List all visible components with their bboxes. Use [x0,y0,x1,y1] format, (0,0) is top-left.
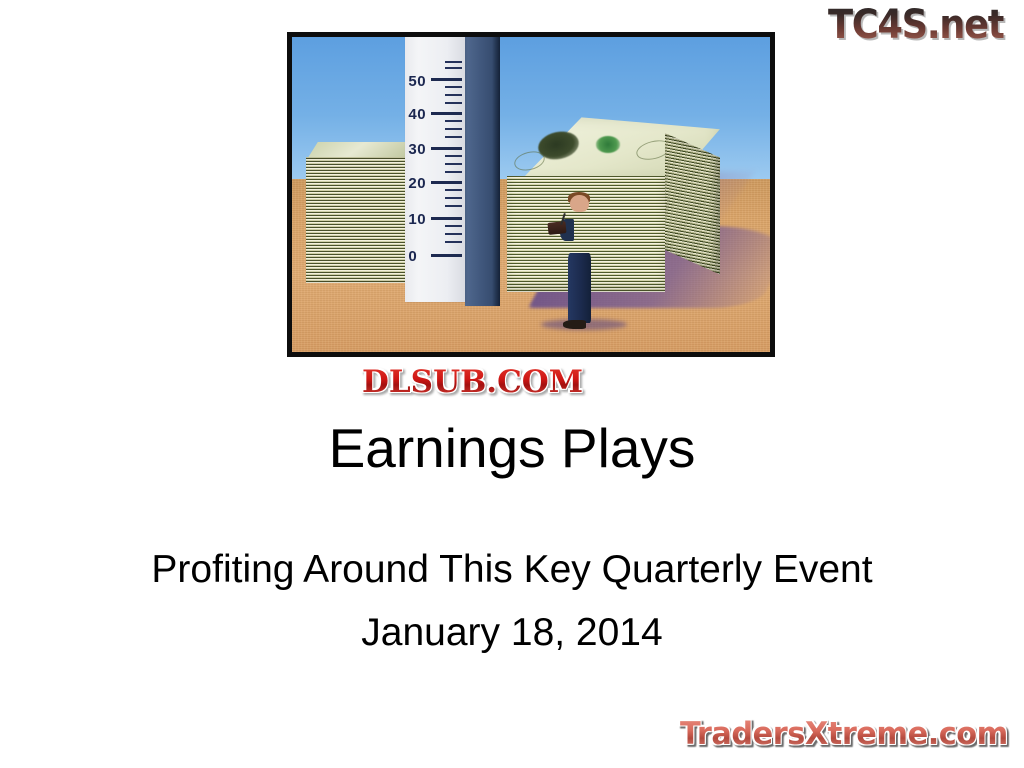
ruler-tick-major [431,112,462,115]
ruler-tick-minor [445,128,462,130]
ruler-tick-minor [445,225,462,227]
ruler-tick-minor [445,120,462,122]
ruler-tick-minor [445,197,462,199]
ruler-tick-minor [445,241,462,243]
ruler-tick-minor [445,189,462,191]
ruler-tick-major [431,254,462,257]
ruler-tick-minor [445,94,462,96]
businessman-figure [557,195,600,330]
ruler-label-0: 0 [408,249,417,264]
businessman-legs [568,253,591,323]
dollar-bill-green-seal [596,136,621,152]
illustration-money-ruler-painting: 50403020100 [292,37,770,352]
ruler-tick-minor [445,61,462,63]
slide-canvas: TC4S.net 50403020100 [0,0,1024,768]
watermark-tc4s: TC4S.net [828,2,1004,48]
ruler-tick-minor [445,205,462,207]
ruler-tick-minor [445,102,462,104]
ruler-tick-minor [445,86,462,88]
ruler-tick-minor [445,155,462,157]
ruler-tick-major [431,217,462,220]
ruler-label-30: 30 [408,142,426,157]
ruler-label-50: 50 [408,74,426,89]
ruler-tick-major [431,147,462,150]
ruler-label-10: 10 [408,212,426,227]
ruler-tick-minor [445,163,462,165]
ruler-label-20: 20 [408,176,426,191]
left-money-stack [306,157,411,283]
ruler-tick-minor [445,171,462,173]
ruler-tick-major [431,181,462,184]
subtitle-block: Profiting Around This Key Quarterly Even… [0,538,1024,664]
businessman-notepad [547,221,566,235]
page-title: Earnings Plays [0,420,1024,478]
watermark-dlsub: DLSUB.COM [362,364,583,400]
ruler-tick-minor [445,67,462,69]
right-money-stack-side [665,133,720,274]
watermark-tradersxtreme: TradersXtreme.com [680,716,1008,752]
subtitle-line-1: Profiting Around This Key Quarterly Even… [0,538,1024,601]
ruler-side-panel [465,37,500,306]
ruler-label-40: 40 [408,107,426,122]
ruler-tick-major [431,78,462,81]
ruler-tick-minor [445,136,462,138]
ruler-measuring-column: 50403020100 [405,37,465,302]
subtitle-line-2: January 18, 2014 [0,601,1024,664]
ruler-tick-minor [445,233,462,235]
illustration-frame: 50403020100 [287,32,775,357]
businessman-shoe [563,320,585,328]
